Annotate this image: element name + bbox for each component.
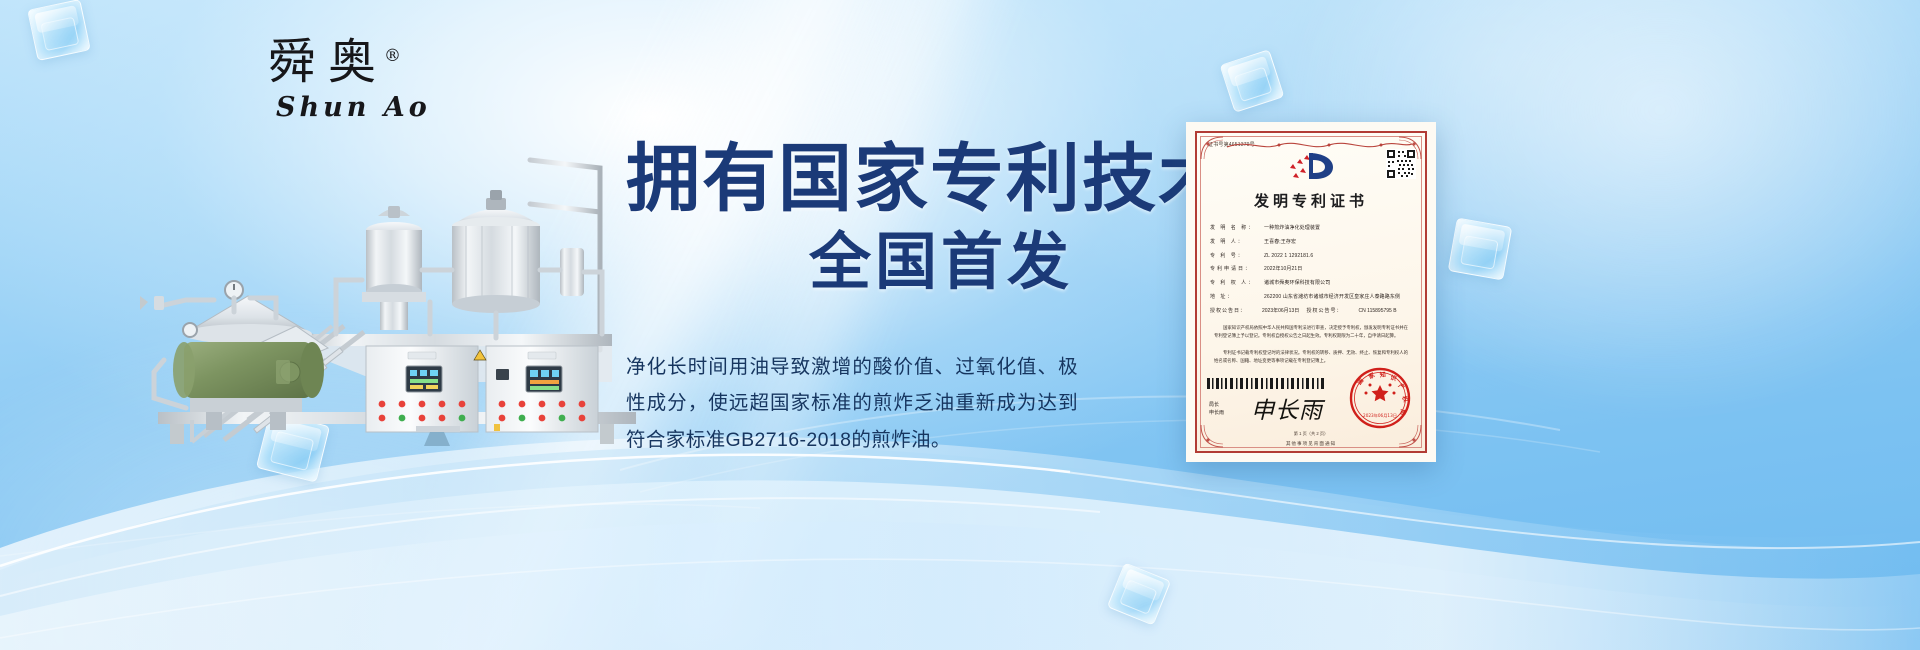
ice-cube-icon — [1220, 49, 1285, 113]
certificate-paragraph-2: 专利证书记载专利权登记时的法律状况。专利权的转移、质押、无效、终止、恢复和专利权… — [1214, 349, 1408, 364]
certificate-field-row: 专利申请日： 2022年10月21日 — [1210, 266, 1412, 273]
grant-no-label: 授权公告号： — [1307, 308, 1359, 315]
certificate-grant-row: 授权公告日： 2023年06月13日 授权公告号： CN 115895795 B — [1210, 308, 1412, 315]
certificate-fields: 发 明 名 称： 一种煎炸油净化处理装置 发 明 人： 王喜春;王存宏 专 利 … — [1210, 225, 1412, 314]
copy-block: 拥有国家专利技术 全国首发 净化长时间用油导致激增的酸价值、过氧化值、极性成分，… — [626, 140, 1146, 458]
ice-cube-icon — [27, 0, 91, 61]
brand-logo-cn-text: 舜奥 — [268, 34, 388, 90]
grant-no-value: CN 115895795 B — [1359, 308, 1412, 315]
brand-logo-cn: 舜奥® — [268, 38, 468, 86]
certificate-field-row: 发 明 名 称： 一种煎炸油净化处理装置 — [1210, 225, 1412, 232]
certificate-field-row: 专 利 号： ZL 2022 1 1292181.6 — [1210, 253, 1412, 260]
certificate-field-row: 专 利 权 人： 诸城市舜奥环保科技有限公司 — [1210, 280, 1412, 287]
ice-cube-icon — [1448, 218, 1513, 281]
field-key: 发 明 人： — [1210, 239, 1264, 246]
ornament-corner-icon — [1199, 135, 1225, 161]
certificate-field-row: 地 址： 262200 山东省潍坊市诸城市经济开发区皇家庄人泰路路东侧 — [1210, 294, 1412, 301]
body-paragraph: 净化长时间用油导致激增的酸价值、过氧化值、极性成分，使远超国家标准的煎炸乏油重新… — [626, 349, 1078, 457]
patent-certificate: CNIPA CNIPA CNIPA CNIPA CNIPA CNIPA — [1186, 122, 1436, 462]
certificate-director-label: 局长 申长雨 — [1209, 401, 1224, 417]
grant-date-label: 授权公告日： — [1210, 308, 1262, 315]
svg-text:知: 知 — [1379, 370, 1386, 379]
ornament-band-icon — [1227, 139, 1412, 151]
field-key: 专 利 号： — [1210, 253, 1264, 260]
brand-logo: 舜奥® Shun Ao — [268, 38, 468, 123]
registered-trademark-icon: ® — [384, 46, 401, 66]
field-value: ZL 2022 1 1292181.6 — [1264, 253, 1412, 260]
certificate-paragraph-1: 国家知识产权局依照中华人民共和国专利法进行审查，决定授予专利权，颁发发明专利证书… — [1214, 324, 1408, 339]
centrifuge-separator — [140, 281, 328, 430]
field-key: 专利申请日： — [1210, 266, 1264, 273]
certificate-bottom-note: 其他事项见背面通知 — [1197, 441, 1425, 447]
grant-date-value: 2023年06月13日 — [1262, 308, 1307, 315]
certificate-page-note: 第 1 页（共 2 页） — [1197, 431, 1425, 437]
patent-technology-banner: 舜奥® Shun Ao — [0, 0, 1920, 650]
svg-text:2023年06月13日: 2023年06月13日 — [1363, 412, 1397, 419]
field-value: 2022年10月21日 — [1264, 266, 1412, 273]
headline-secondary: 全国首发 — [736, 230, 1146, 297]
certificate-signature: 申长雨 — [1251, 391, 1323, 425]
certificate-field-row: 发 明 人： 王喜春;王存宏 — [1210, 239, 1412, 246]
official-seal-icon: 国 家 知 识 产 权 局 2023年06月13日 — [1349, 367, 1411, 429]
field-value: 诸城市舜奥环保科技有限公司 — [1264, 280, 1412, 287]
certificate-frame: 证书号第4651379号 — [1195, 131, 1427, 453]
oil-purification-machine — [130, 120, 660, 450]
field-key: 地 址： — [1210, 294, 1264, 301]
patent-emblem-icon — [1283, 151, 1339, 181]
barcode-icon — [1207, 378, 1325, 389]
headline-primary: 拥有国家专利技术 — [626, 140, 1146, 218]
field-value: 王喜春;王存宏 — [1264, 239, 1412, 246]
field-value: 262200 山东省潍坊市诸城市经济开发区皇家庄人泰路路东侧 — [1264, 294, 1412, 301]
svg-text:局: 局 — [1399, 408, 1407, 415]
brand-logo-en: Shun Ao — [276, 92, 468, 123]
certificate-title: 发明专利证书 — [1202, 190, 1420, 211]
field-key: 专 利 权 人： — [1210, 280, 1264, 287]
qr-code-icon — [1386, 149, 1416, 179]
field-value: 一种煎炸油净化处理装置 — [1264, 225, 1412, 232]
field-key: 发 明 名 称： — [1210, 225, 1264, 232]
